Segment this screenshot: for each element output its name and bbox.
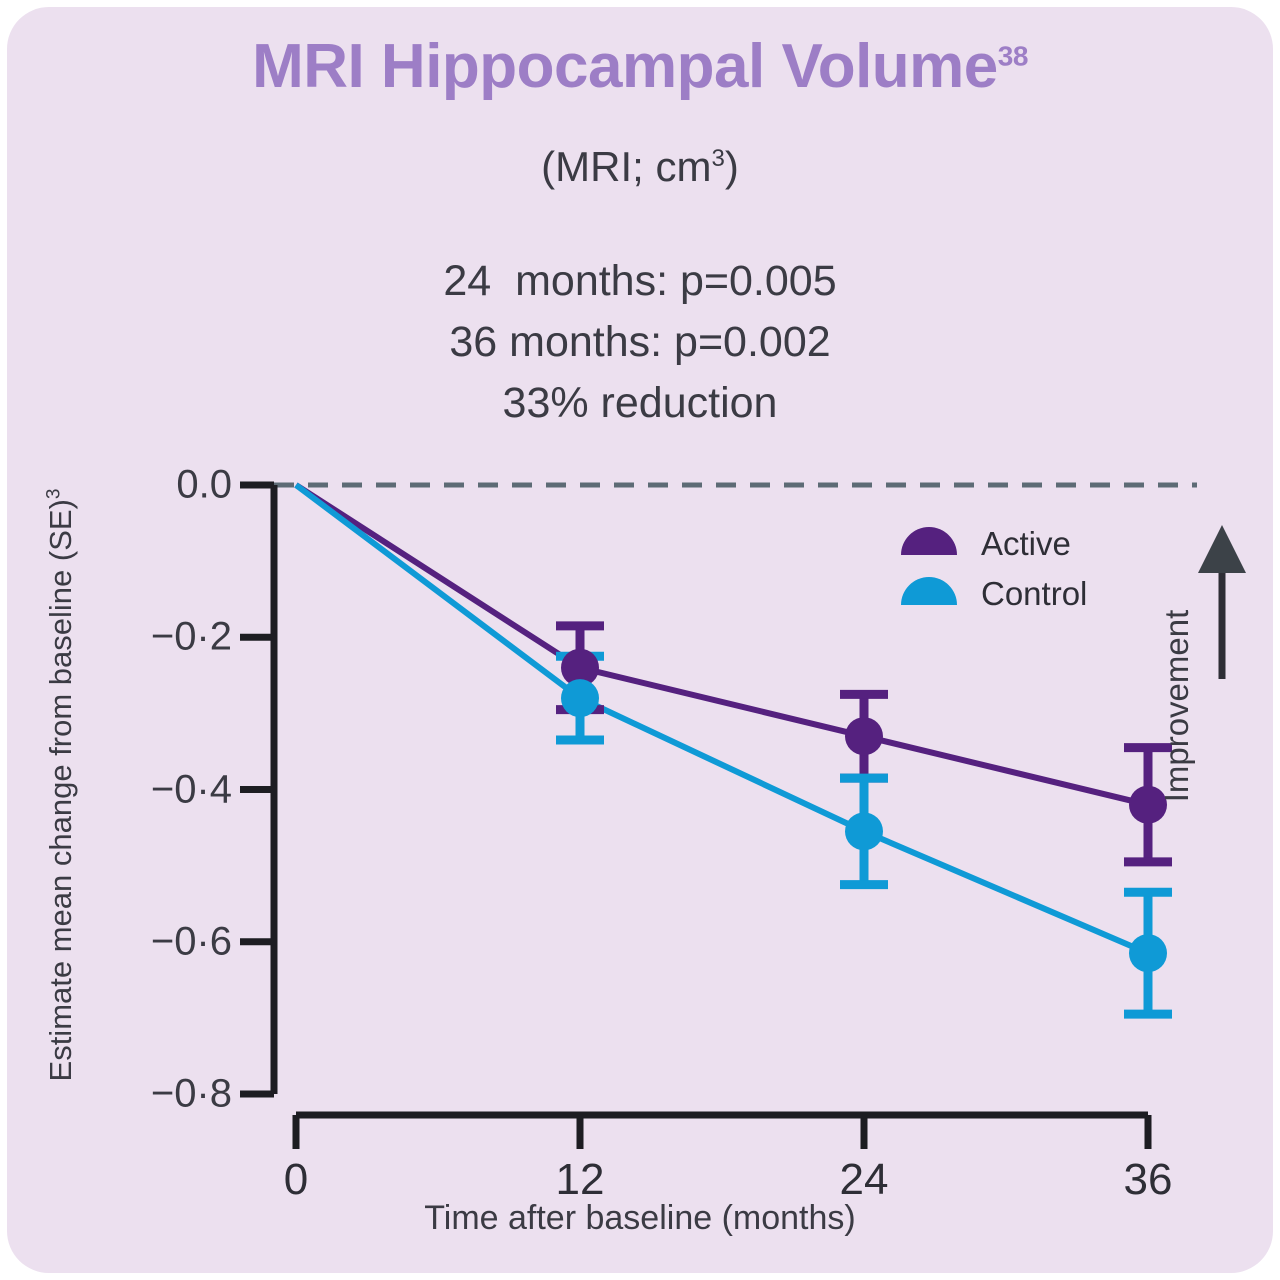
data-point-control[interactable]: [561, 679, 599, 717]
chart-card: MRI Hippocampal Volume38 (MRI; cm3) 24 m…: [7, 7, 1273, 1273]
y-axis-tick-label: −0·6: [82, 919, 232, 964]
x-axis-tick-label: 24: [804, 1155, 924, 1205]
legend-label-control: Control: [981, 575, 1087, 613]
data-point-active[interactable]: [845, 717, 883, 755]
legend-marker-active: [901, 527, 957, 555]
y-axis-label: Estimate mean change from baseline (SE)3: [43, 445, 79, 1125]
y-axis-label-text: Estimate mean change from baseline (SE): [43, 499, 78, 1081]
y-axis-tick-label: −0·2: [82, 615, 232, 660]
y-axis-tick-label: 0.0: [82, 463, 232, 508]
x-axis-tick-label: 36: [1088, 1155, 1208, 1205]
legend-marker-control: [901, 577, 957, 605]
x-axis-tick-label: 0: [236, 1155, 356, 1205]
data-point-control[interactable]: [845, 812, 883, 850]
improvement-label: Improvement: [1158, 536, 1196, 876]
legend-label-active: Active: [981, 525, 1071, 563]
x-axis-tick-label: 12: [520, 1155, 640, 1205]
y-axis-label-superscript: 3: [44, 489, 65, 500]
improvement-arrow-head: [1198, 525, 1246, 573]
y-axis-tick-label: −0·4: [82, 767, 232, 812]
x-axis-label: Time after baseline (months): [7, 1199, 1273, 1238]
y-axis-tick-label: −0·8: [82, 1072, 232, 1117]
data-point-control[interactable]: [1129, 934, 1167, 972]
